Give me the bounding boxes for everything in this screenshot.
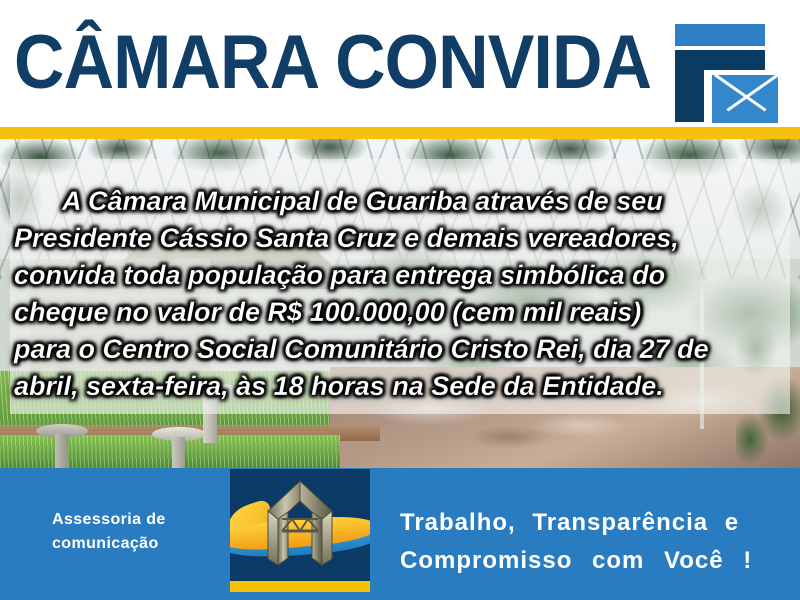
invitation-poster: CÂMARA CONVIDA (0, 0, 800, 600)
poster-footer: Assessoria de comunicação Trabalho, Tran… (0, 468, 800, 600)
background-photo: A Câmara Municipal de Guariba através de… (0, 139, 800, 468)
message-line: convida toda população para entrega simb… (14, 257, 789, 294)
footer-slogan: Trabalho, Transparência e Compromisso co… (400, 504, 790, 580)
message-line: cheque no valor de R$ 100.000,00 (cem mi… (14, 294, 789, 331)
message-line: para o Centro Social Comunitário Cristo … (14, 331, 789, 368)
message-line: A Câmara Municipal de Guariba através de… (14, 183, 789, 220)
emblem-bottom-strip (230, 581, 370, 592)
page-title: CÂMARA CONVIDA (14, 18, 651, 108)
poster-header: CÂMARA CONVIDA (0, 0, 800, 127)
yellow-divider-bar (0, 127, 800, 139)
assessoria-label: Assessoria de comunicação (52, 508, 212, 556)
message-line: abril, sexta-feira, às 18 horas na Sede … (14, 368, 789, 405)
photo-stone-bench-leg (172, 437, 185, 468)
photo-stone-bench-left (36, 424, 88, 466)
assessoria-label-line2: comunicação (52, 535, 159, 552)
footer-slogan-line2: Compromisso com Você ! (400, 542, 790, 580)
message-line: Presidente Cássio Santa Cruz e demais ve… (14, 220, 789, 257)
camara-convida-mail-logo (670, 24, 790, 124)
assessoria-label-line1: Assessoria de (52, 511, 166, 528)
emblem-house-icon (248, 479, 352, 569)
envelope-flap-right (726, 74, 779, 112)
photo-stone-bench-leg (55, 434, 68, 468)
invitation-message: A Câmara Municipal de Guariba através de… (14, 183, 789, 405)
photo-stone-bench-right (152, 427, 206, 468)
camara-municipal-guariba-emblem (230, 469, 370, 592)
logo-top-bar (675, 24, 765, 46)
envelope-flap-left (714, 74, 767, 112)
envelope-icon (709, 72, 781, 126)
footer-slogan-line1: Trabalho, Transparência e (400, 504, 790, 542)
